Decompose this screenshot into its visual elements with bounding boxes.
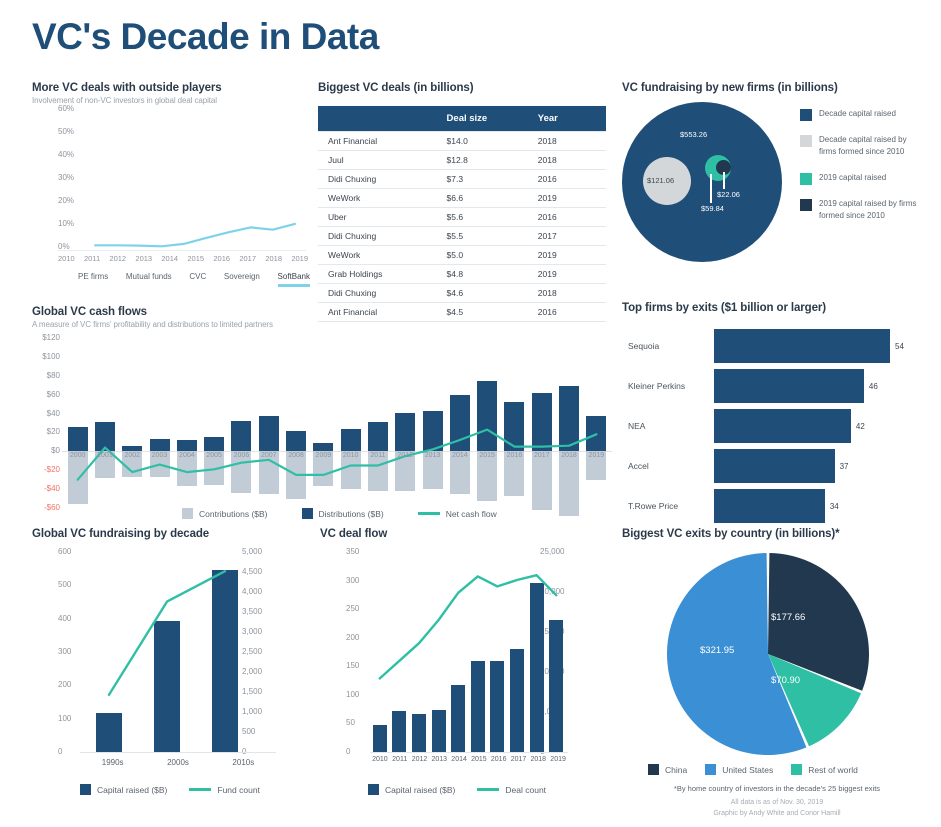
cell-deal-size: $12.8 xyxy=(441,151,532,170)
legend-row: Decade capital raised xyxy=(800,108,924,121)
x-axis-line xyxy=(370,752,568,753)
panel-vc-deal-flow: VC deal flow 350300250200150100500 25,00… xyxy=(320,528,612,818)
x-axis-year-label: 2018 xyxy=(265,254,282,263)
y-tick-left: 250 xyxy=(346,604,370,613)
y-tick: $20 xyxy=(32,427,60,436)
x-axis-year-label: 2018 xyxy=(558,452,580,459)
credit-line-2: Graphic by Andy White and Conor Hamill xyxy=(622,809,932,820)
x-axis-line xyxy=(80,752,276,753)
panel-title: VC deal flow xyxy=(320,528,612,540)
leader-line-2019-capital xyxy=(710,174,712,203)
y-tick: 10% xyxy=(58,219,82,228)
legend-swatch xyxy=(368,784,379,795)
y-tick: $100 xyxy=(32,352,60,361)
legend-item: Capital raised ($B) xyxy=(368,784,455,795)
x-axis-year-label: 2018 xyxy=(527,756,549,763)
x-axis-year-label: 2019 xyxy=(291,254,308,263)
x-axis-year-label: 2000 xyxy=(67,452,89,459)
softbank-line-series xyxy=(84,110,306,250)
y-tick: 40% xyxy=(58,150,82,159)
y-tick: $40 xyxy=(32,409,60,418)
legend-label: Capital raised ($B) xyxy=(97,785,167,795)
cell-deal-size: $5.6 xyxy=(441,208,532,227)
bar-value: 46 xyxy=(869,382,878,391)
legend-label: Decade capital raised by firms formed si… xyxy=(819,134,924,159)
y-tick-left: 400 xyxy=(58,614,80,623)
cell-deal-size: $4.6 xyxy=(441,284,532,303)
table-row: Didi Chuxing$7.32016 xyxy=(318,170,606,189)
y-tick: $60 xyxy=(32,390,60,399)
panel-biggest-deals: Biggest VC deals (in billions) Deal size… xyxy=(318,82,608,322)
panel-global-cash-flows: Global VC cash flows A measure of VC fir… xyxy=(32,306,612,526)
legend-item: Net cash flow xyxy=(418,508,497,519)
legend-swatch xyxy=(800,199,812,211)
x-axis-year-label: 2019 xyxy=(547,756,569,763)
x-axis-category-label: 2000s xyxy=(158,758,198,767)
legend-item: Contributions ($B) xyxy=(182,508,268,519)
table-header-row: Deal size Year xyxy=(318,106,606,132)
y-tick: $0 xyxy=(32,446,60,455)
y-tick: -$20 xyxy=(32,465,60,474)
legend-label: Fund count xyxy=(217,785,260,795)
cell-year: 2019 xyxy=(532,265,606,284)
legend-line-swatch xyxy=(189,788,211,791)
x-axis-year-label: 2012 xyxy=(409,756,431,763)
chart-legend: Capital raised ($B)Deal count xyxy=(368,784,546,795)
y-tick: 60% xyxy=(58,104,82,113)
cell-year: 2018 xyxy=(532,284,606,303)
pie-legend: ChinaUnited StatesRest of world xyxy=(648,764,858,775)
legend-item: Deal count xyxy=(477,784,546,795)
x-axis-year-label: 2014 xyxy=(449,452,471,459)
x-axis-year-label: 2016 xyxy=(213,254,230,263)
table-row: Ant Financial$14.02018 xyxy=(318,132,606,151)
cell-year: 2016 xyxy=(532,208,606,227)
cell-year: 2018 xyxy=(532,132,606,151)
table-row: NEA42 xyxy=(622,408,922,444)
panel-title: Top firms by exits ($1 billion or larger… xyxy=(622,302,922,314)
table-row: Didi Chuxing$5.52017 xyxy=(318,227,606,246)
x-axis-year-label: 2013 xyxy=(135,254,152,263)
y-tick-left: 0 xyxy=(346,747,370,756)
cell-company: Juul xyxy=(318,151,441,170)
legend-label: Deal count xyxy=(505,785,546,795)
legend-line-swatch xyxy=(418,512,440,515)
firm-name: NEA xyxy=(622,421,714,431)
leader-line-2019-new-firms xyxy=(723,172,725,189)
panel-fundraising-new-firms: VC fundraising by new firms (in billions… xyxy=(622,82,922,282)
x-axis-year-label: 2003 xyxy=(149,452,171,459)
cell-deal-size: $6.6 xyxy=(441,189,532,208)
cell-deal-size: $7.3 xyxy=(441,170,532,189)
bar-wrap: 34 xyxy=(714,489,922,523)
legend-item: China xyxy=(648,764,687,775)
x-axis-category-label: 2010s xyxy=(223,758,263,767)
column-header-deal-size: Deal size xyxy=(441,106,532,132)
legend-label: Net cash flow xyxy=(446,509,497,519)
y-tick-left: 600 xyxy=(58,547,80,556)
pie-label-china: $177.66 xyxy=(771,612,805,623)
column-header-year: Year xyxy=(532,106,606,132)
x-axis-year-label: 2013 xyxy=(422,452,444,459)
legend-label: Contributions ($B) xyxy=(199,509,268,519)
legend-label: 2019 capital raised xyxy=(819,172,886,184)
legend-row: 2019 capital raised by firms formed sinc… xyxy=(800,198,924,223)
cell-deal-size: $4.8 xyxy=(441,265,532,284)
legend-label: Decade capital raised xyxy=(819,108,896,120)
bar-value: 34 xyxy=(830,502,839,511)
y-tick-left: 0 xyxy=(58,747,80,756)
legend-item-pe-firms[interactable]: PE firms xyxy=(78,272,108,287)
y-tick-left: 500 xyxy=(58,580,80,589)
x-axis-year-label: 2008 xyxy=(285,452,307,459)
x-axis-year-label: 2015 xyxy=(187,254,204,263)
y-tick-left: 300 xyxy=(58,647,80,656)
bubble-label-2019-capital: $59.84 xyxy=(701,204,724,213)
legend-item-sovereign[interactable]: Sovereign xyxy=(224,272,260,287)
cell-deal-size: $5.5 xyxy=(441,227,532,246)
table-row: Kleiner Perkins46 xyxy=(622,368,922,404)
y-tick-left: 100 xyxy=(346,690,370,699)
x-axis-year-label: 2009 xyxy=(312,452,334,459)
x-axis-year-label: 2016 xyxy=(503,452,525,459)
cell-deal-size: $5.0 xyxy=(441,246,532,265)
y-tick: -$60 xyxy=(32,503,60,512)
legend-item-mutual-funds[interactable]: Mutual funds xyxy=(126,272,172,287)
net-cash-flow-line xyxy=(64,338,610,508)
deal-count-line xyxy=(370,552,566,752)
panel-title: Biggest VC exits by country (in billions… xyxy=(622,528,932,540)
bar-value: 42 xyxy=(856,422,865,431)
panel-title: More VC deals with outside players xyxy=(32,82,308,94)
y-tick: 50% xyxy=(58,127,82,136)
legend-swatch xyxy=(800,173,812,185)
x-axis-category-label: 1990s xyxy=(93,758,133,767)
combo-chart-plot: 350300250200150100500 25,00020,00015,000… xyxy=(346,552,576,752)
x-axis-year-label: 2007 xyxy=(258,452,280,459)
panel-top-firms-by-exits: Top firms by exits ($1 billion or larger… xyxy=(622,302,922,522)
fund-count-line xyxy=(80,552,254,752)
legend-swatch xyxy=(705,764,716,775)
bar-wrap: 42 xyxy=(714,409,922,443)
y-tick: 20% xyxy=(58,196,82,205)
x-axis-year-label: 2016 xyxy=(488,756,510,763)
credit-line-1: All data is as of Nov. 30, 2019 xyxy=(622,798,932,809)
bubble-chart: $553.26 $121.06 $59.84 $22.06 xyxy=(622,102,782,262)
cell-year: 2018 xyxy=(532,151,606,170)
legend-item-cvc[interactable]: CVC xyxy=(189,272,206,287)
legend-item: Capital raised ($B) xyxy=(80,784,167,795)
series-legend: PE firmsMutual fundsCVCSovereignSoftBank xyxy=(78,272,310,287)
pie-slices xyxy=(658,550,878,758)
x-axis-year-label: 2017 xyxy=(531,452,553,459)
x-axis-year-label: 2006 xyxy=(230,452,252,459)
y-tick: $80 xyxy=(32,371,60,380)
x-axis-year-label: 2012 xyxy=(394,452,416,459)
bar-wrap: 54 xyxy=(714,329,922,363)
x-axis-year-label: 2014 xyxy=(448,756,470,763)
x-axis-year-label: 2001 xyxy=(94,452,116,459)
y-tick-left: 350 xyxy=(346,547,370,556)
panel-title: Global VC fundraising by decade xyxy=(32,528,312,540)
panel-exits-by-country: Biggest VC exits by country (in billions… xyxy=(622,528,932,827)
bar-wrap: 37 xyxy=(714,449,922,483)
x-axis-year-label: 2010 xyxy=(58,254,75,263)
y-tick-left: 50 xyxy=(346,718,370,727)
bubble-label-decade-new-firms: $121.06 xyxy=(647,176,674,185)
legend-label: United States xyxy=(722,765,773,775)
legend-label: Distributions ($B) xyxy=(319,509,384,519)
firm-name: Sequoia xyxy=(622,341,714,351)
legend-label: Rest of world xyxy=(808,765,858,775)
column-header-company xyxy=(318,106,441,132)
legend-item: Fund count xyxy=(189,784,260,795)
y-tick-left: 200 xyxy=(346,633,370,642)
horizontal-bar-rows: Sequoia54Kleiner Perkins46NEA42Accel37T.… xyxy=(622,328,922,528)
legend-item-softbank[interactable]: SoftBank xyxy=(278,272,310,287)
x-axis-year-label: 2017 xyxy=(239,254,256,263)
x-axis-year-label: 2010 xyxy=(369,756,391,763)
table-row: Grab Holdings$4.82019 xyxy=(318,265,606,284)
x-axis-year-label: 2011 xyxy=(367,452,389,459)
x-axis-year-label: 2005 xyxy=(203,452,225,459)
legend-swatch xyxy=(800,135,812,147)
x-axis-year-label: 2015 xyxy=(476,452,498,459)
cell-company: Uber xyxy=(318,208,441,227)
x-axis-year-label: 2012 xyxy=(109,254,126,263)
cell-year: 2019 xyxy=(532,246,606,265)
table-row: Juul$12.82018 xyxy=(318,151,606,170)
x-axis-year-labels: 2010201120122013201420152016201720182019 xyxy=(58,254,308,263)
table-row: T.Rowe Price34 xyxy=(622,488,922,524)
biggest-deals-table: Deal size Year Ant Financial$14.02018Juu… xyxy=(318,106,606,322)
cell-company: Didi Chuxing xyxy=(318,227,441,246)
legend-line-swatch xyxy=(477,788,499,791)
combo-chart-plot: 6005004003002001000 5,0004,5004,0003,500… xyxy=(58,552,276,752)
legend-label: 2019 capital raised by firms formed sinc… xyxy=(819,198,924,223)
pie-label-united-states: $321.95 xyxy=(700,645,734,656)
y-tick-left: 300 xyxy=(346,576,370,585)
panel-title: Global VC cash flows xyxy=(32,306,612,318)
x-axis-line xyxy=(58,250,306,251)
table-row: Sequoia54 xyxy=(622,328,922,364)
table-row: Uber$5.62016 xyxy=(318,208,606,227)
panel-title: Biggest VC deals (in billions) xyxy=(318,82,608,94)
x-axis-year-label: 2017 xyxy=(508,756,530,763)
x-axis-year-label: 2002 xyxy=(121,452,143,459)
bar xyxy=(714,329,890,363)
page-title: VC's Decade in Data xyxy=(32,16,379,58)
bar xyxy=(714,449,835,483)
y-tick: 30% xyxy=(58,173,82,182)
cell-year: 2016 xyxy=(532,170,606,189)
line-chart-plot: 60% 50% 40% 30% 20% 10% 0% xyxy=(58,110,306,250)
x-axis-year-label: 2014 xyxy=(161,254,178,263)
cell-company: WeWork xyxy=(318,246,441,265)
x-axis-year-label: 2004 xyxy=(176,452,198,459)
x-axis-year-label: 2010 xyxy=(340,452,362,459)
pie-chart: $177.66 $321.95 $70.90 xyxy=(658,550,878,758)
chart-legend: Contributions ($B)Distributions ($B)Net … xyxy=(182,508,497,519)
credit-block: All data is as of Nov. 30, 2019 Graphic … xyxy=(622,798,932,819)
x-axis-year-label: 2011 xyxy=(84,254,100,263)
bar-wrap: 46 xyxy=(714,369,922,403)
y-tick-left: 150 xyxy=(346,661,370,670)
y-tick-left: 100 xyxy=(58,714,80,723)
legend-item: United States xyxy=(705,764,773,775)
y-tick: -$40 xyxy=(32,484,60,493)
panel-title: VC fundraising by new firms (in billions… xyxy=(622,82,922,94)
table-row: WeWork$6.62019 xyxy=(318,189,606,208)
chart-legend: Capital raised ($B)Fund count xyxy=(80,784,260,795)
cell-company: Grab Holdings xyxy=(318,265,441,284)
firm-name: Kleiner Perkins xyxy=(622,381,714,391)
legend-label: China xyxy=(665,765,687,775)
legend-swatch xyxy=(80,784,91,795)
legend-item: Rest of world xyxy=(791,764,858,775)
legend-swatch xyxy=(182,508,193,519)
cell-company: Didi Chuxing xyxy=(318,284,441,303)
panel-subtitle: A measure of VC firms' profitability and… xyxy=(32,320,612,329)
bubble-label-decade-capital: $553.26 xyxy=(680,130,707,139)
x-axis-year-label: 2019 xyxy=(585,452,607,459)
cell-year: 2019 xyxy=(532,189,606,208)
legend-label: Capital raised ($B) xyxy=(385,785,455,795)
bubble-label-2019-new-firms: $22.06 xyxy=(717,190,740,199)
bar xyxy=(714,369,864,403)
bar xyxy=(714,409,851,443)
legend-swatch xyxy=(302,508,313,519)
x-axis-year-label: 2011 xyxy=(389,756,411,763)
y-tick: $120 xyxy=(32,333,60,342)
cell-company: WeWork xyxy=(318,189,441,208)
firm-name: T.Rowe Price xyxy=(622,501,714,511)
table-row: WeWork$5.02019 xyxy=(318,246,606,265)
panel-deals-outside-players: More VC deals with outside players Invol… xyxy=(32,82,308,282)
bubble-legend: Decade capital raisedDecade capital rais… xyxy=(800,108,924,236)
legend-swatch xyxy=(648,764,659,775)
bar xyxy=(714,489,825,523)
cell-company: Ant Financial xyxy=(318,132,441,151)
firm-name: Accel xyxy=(622,461,714,471)
bar-value: 54 xyxy=(895,342,904,351)
legend-row: Decade capital raised by firms formed si… xyxy=(800,134,924,159)
legend-item: Distributions ($B) xyxy=(302,508,384,519)
table-row: Accel37 xyxy=(622,448,922,484)
legend-row: 2019 capital raised xyxy=(800,172,924,185)
legend-swatch xyxy=(800,109,812,121)
footnote: *By home country of investors in the dec… xyxy=(622,784,932,793)
x-axis-year-label: 2015 xyxy=(468,756,490,763)
x-axis-year-label: 2013 xyxy=(428,756,450,763)
pie-label-rest-of-world: $70.90 xyxy=(771,675,800,686)
panel-fundraising-by-decade: Global VC fundraising by decade 60050040… xyxy=(32,528,312,818)
infographic-page: VC's Decade in Data More VC deals with o… xyxy=(0,0,941,827)
legend-swatch xyxy=(791,764,802,775)
cell-year: 2017 xyxy=(532,227,606,246)
cell-company: Didi Chuxing xyxy=(318,170,441,189)
y-tick-left: 200 xyxy=(58,680,80,689)
table-row: Didi Chuxing$4.62018 xyxy=(318,284,606,303)
bar-value: 37 xyxy=(840,462,849,471)
cell-deal-size: $14.0 xyxy=(441,132,532,151)
